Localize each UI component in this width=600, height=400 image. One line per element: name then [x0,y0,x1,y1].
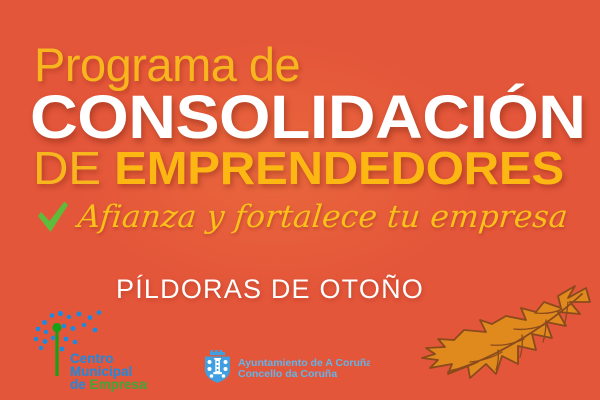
poster-canvas: Programa de CONSOLIDACIÓN DE EMPRENDEDOR… [0,0,600,400]
coat-of-arms-icon [205,350,230,383]
check-icon [36,199,70,235]
headline-line-de-emprendedores: DE EMPRENDEDORES [33,142,564,194]
logo-ayto-wordmark: Ayuntamiento de A Coruña Concello da Cor… [238,357,370,380]
oak-leaf-icon [418,282,600,398]
headline-word-emprendedores: EMPRENDEDORES [114,142,564,194]
headline-line-consolidacion: CONSOLIDACIÓN [30,84,586,150]
logo-ayto-line2: Concello da Coruña [238,368,337,380]
headline-word-de: DE [33,142,114,194]
tagline-text: Afianza y fortalece tu empresa [76,198,570,236]
logo-ayuntamiento-a-coruna: Ayuntamiento de A Coruña Concello da Cor… [200,350,370,384]
logo-cme-line3: de Empresas [70,377,148,392]
tagline-row: Afianza y fortalece tu empresa [36,198,568,236]
logo-cme-wordmark: Centro Municipal de Empresas [70,351,148,392]
logo-centro-municipal-de-empresas: Centro Municipal de Empresas [28,308,148,392]
